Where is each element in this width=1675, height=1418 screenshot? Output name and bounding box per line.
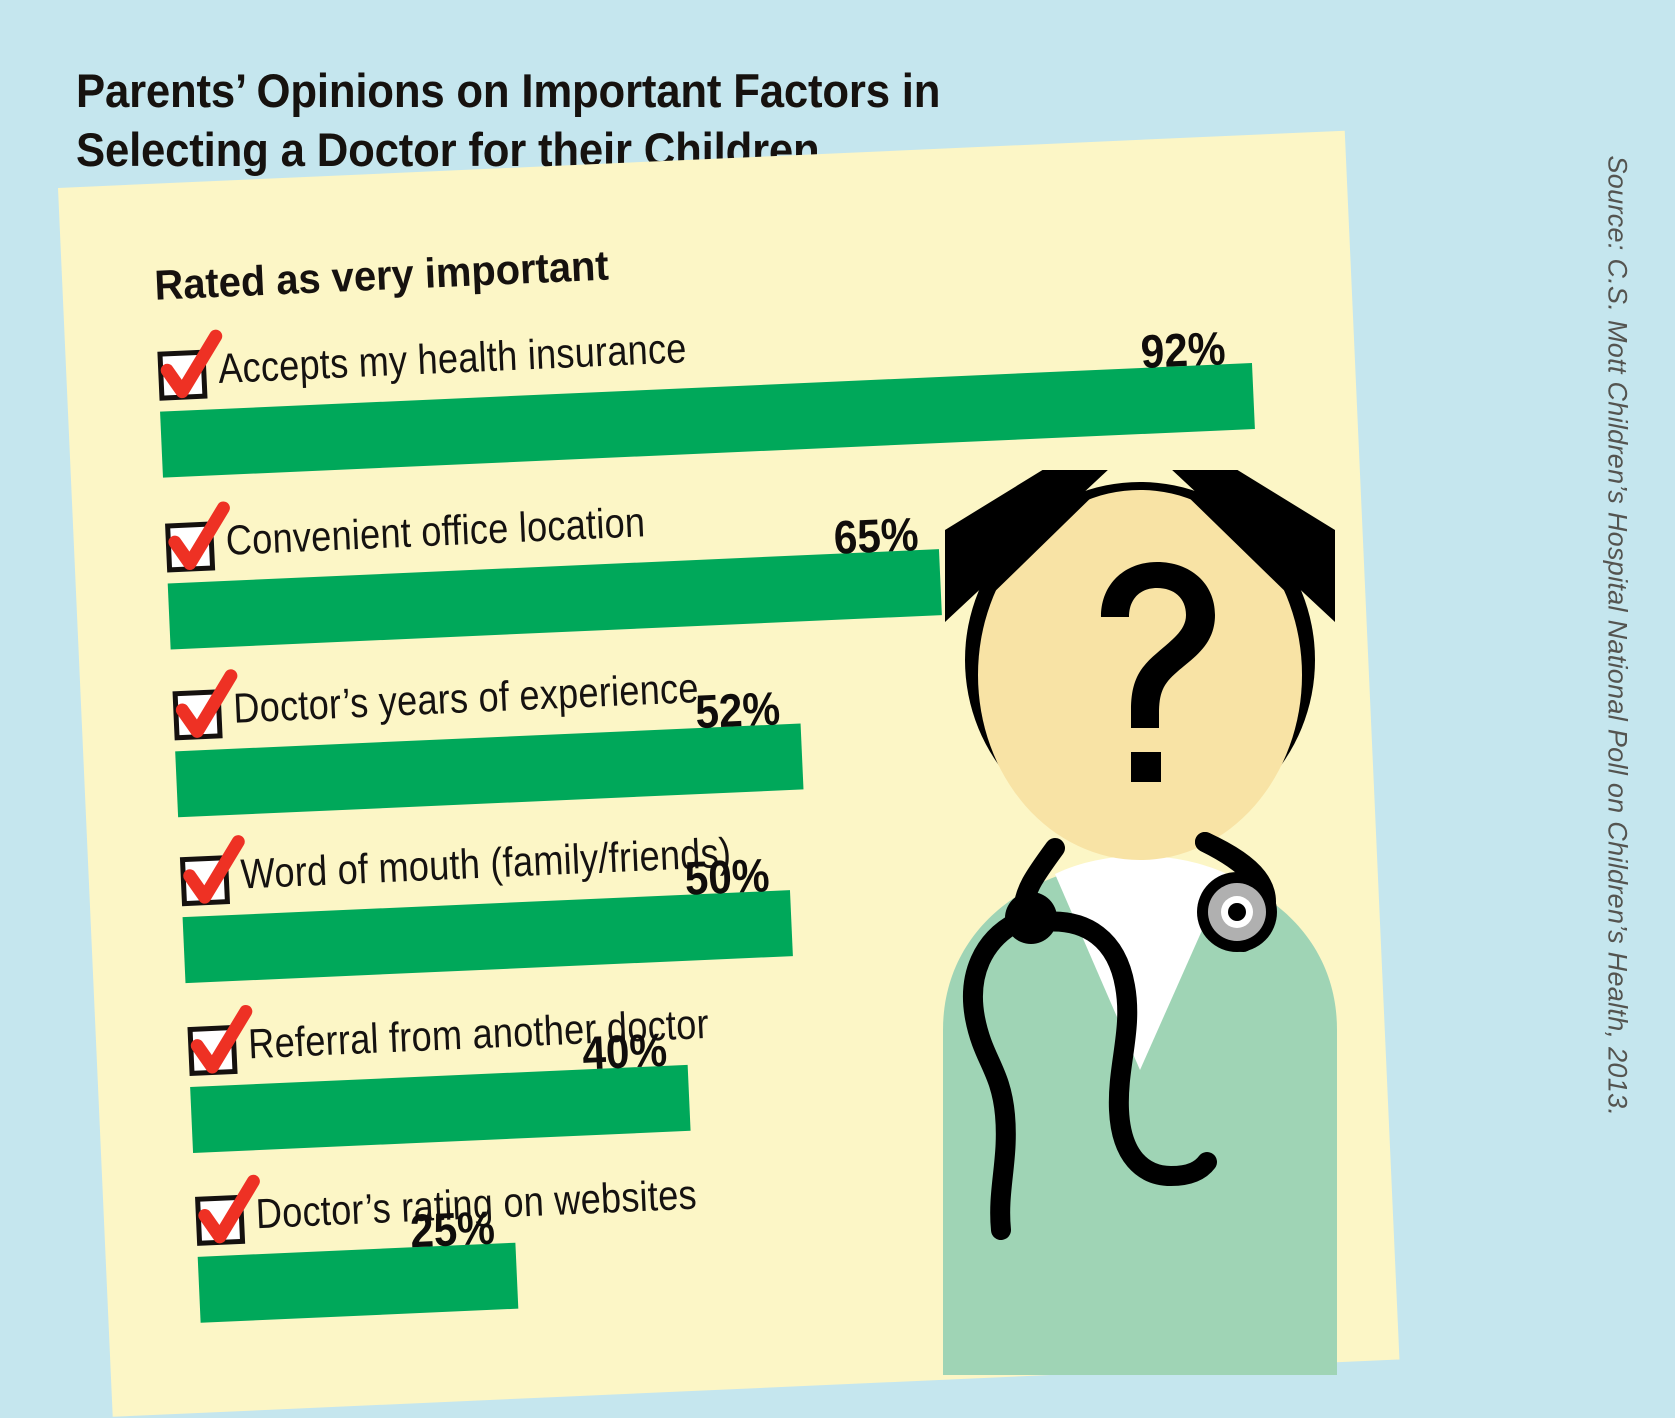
checkbox-icon[interactable] — [165, 521, 215, 572]
face-group — [945, 470, 1335, 860]
bar-segment: 50% — [183, 890, 793, 983]
bar-segment: 65% — [168, 549, 942, 649]
check-mark-icon — [165, 504, 234, 573]
bar-segment: 40% — [190, 1065, 690, 1153]
checkbox-icon[interactable] — [180, 855, 230, 906]
bar-value-label: 52% — [694, 680, 781, 739]
check-mark-icon — [180, 837, 249, 906]
list-item-label: Word of mouth (family/friends) — [240, 829, 732, 899]
stethoscope-junction — [1005, 892, 1057, 944]
checkbox-icon[interactable] — [195, 1195, 245, 1246]
source-citation: Source: C.S. Mott Children’s Hospital Na… — [1602, 156, 1633, 916]
list-item-label: Doctor’s years of experience — [232, 664, 699, 733]
check-mark-icon — [158, 332, 227, 401]
infographic-canvas: Parents’ Opinions on Important Factors i… — [0, 0, 1675, 1418]
bar-value-label: 40% — [581, 1022, 668, 1081]
list-item-label: Accepts my health insurance — [217, 324, 687, 393]
checkbox-icon[interactable] — [173, 689, 223, 740]
checkbox-icon[interactable] — [187, 1025, 237, 1076]
doctor-illustration — [905, 470, 1375, 1375]
checkbox-icon[interactable] — [157, 350, 207, 401]
check-mark-icon — [188, 1007, 257, 1076]
bar-value-label: 25% — [409, 1200, 496, 1259]
bar-segment: 25% — [198, 1243, 519, 1323]
stethoscope-chestpiece — [1197, 872, 1277, 952]
bar-value-label: 92% — [1139, 320, 1226, 379]
chart-subtitle: Rated as very important — [153, 242, 609, 310]
bar-segment: 52% — [175, 723, 803, 817]
check-mark-icon — [173, 671, 242, 740]
list-item-label: Convenient office location — [225, 498, 646, 565]
check-mark-icon — [195, 1177, 264, 1246]
bar-value-label: 50% — [683, 847, 770, 906]
